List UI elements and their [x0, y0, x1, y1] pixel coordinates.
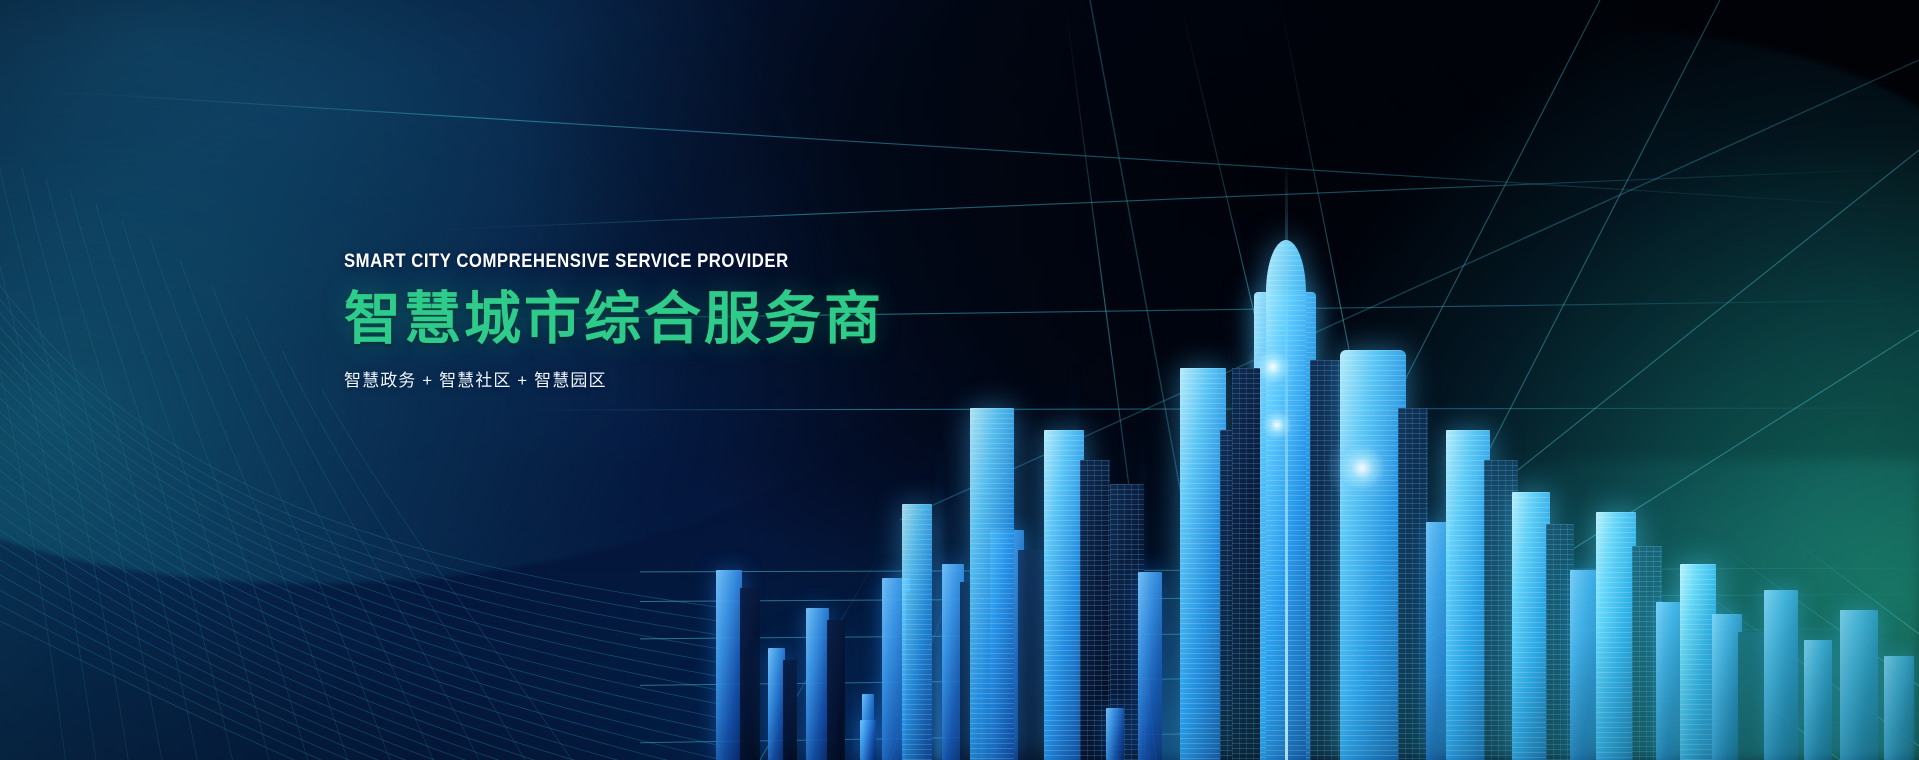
hero-eyebrow: SMART CITY COMPREHENSIVE SERVICE PROVIDE… — [344, 252, 819, 271]
hero-subtitle: 智慧政务 + 智慧社区 + 智慧园区 — [344, 366, 884, 391]
hero-copy-block: SMART CITY COMPREHENSIVE SERVICE PROVIDE… — [344, 252, 884, 391]
right-green-floor-tint — [1159, 460, 1919, 760]
hero-banner: SMART CITY COMPREHENSIVE SERVICE PROVIDE… — [0, 0, 1919, 760]
page-title: 智慧城市综合服务商 — [344, 288, 884, 352]
